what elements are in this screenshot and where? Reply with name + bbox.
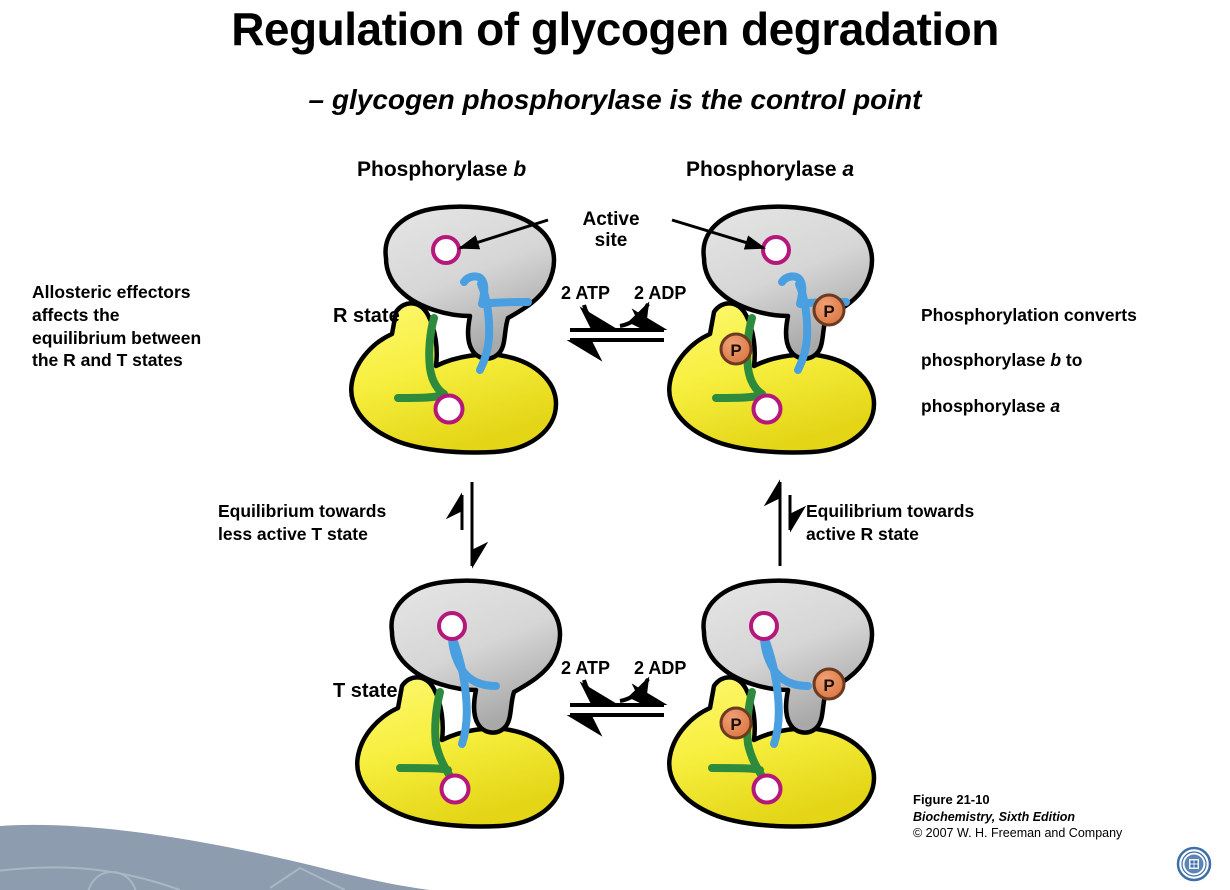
yellow-subunit	[669, 677, 874, 826]
phosphate-badge-yellow: P	[721, 334, 751, 364]
phosphorylase-diagram: P P P P	[0, 0, 1230, 890]
label-atp-bottom: 2 ATP	[561, 658, 610, 679]
atp-curve-top	[584, 305, 612, 328]
equilibrium-arrow-left	[462, 482, 472, 566]
active-site-gray	[751, 613, 777, 639]
active-site-yellow	[442, 776, 469, 803]
reaction-arrows-bottom	[570, 679, 664, 715]
yellow-subunit	[669, 303, 874, 452]
column-header-phosphorylase-b-text: Phosphorylase	[357, 158, 513, 181]
panel-phosphorylase-b-t-state	[357, 581, 562, 827]
blue-loop-tail	[480, 284, 489, 370]
note-phosphorylation-line3-pre: phosphorylase	[921, 396, 1050, 416]
note-allosteric-effectors: Allosteric effectors affects the equilib…	[32, 281, 282, 372]
figure-copyright: © 2007 W. H. Freeman and Company	[913, 825, 1122, 841]
svg-text:P: P	[730, 715, 741, 734]
figure-credit: Figure 21-10 Biochemistry, Sixth Edition…	[913, 792, 1122, 841]
blue-loop-tail	[452, 636, 467, 744]
note-phosphorylation-line2-italic: b	[1050, 350, 1061, 370]
page-subtitle: – glycogen phosphorylase is the control …	[0, 85, 1230, 116]
page-title: Regulation of glycogen degradation	[0, 4, 1230, 55]
blue-loop	[782, 276, 846, 304]
gray-subunit	[704, 581, 872, 733]
active-site-yellow	[436, 396, 463, 423]
active-site-gray	[433, 237, 459, 263]
panel-phosphorylase-a-t-state: P P	[669, 581, 874, 827]
svg-text:P: P	[823, 302, 834, 321]
label-atp-top: 2 ATP	[561, 283, 610, 304]
blue-loop-plug	[452, 636, 496, 686]
column-header-phosphorylase-b: Phosphorylase b	[357, 158, 526, 182]
figure-number: Figure 21-10	[913, 792, 1122, 809]
note-phosphorylation-line2-post: to	[1061, 350, 1082, 370]
phosphate-badge-gray: P	[814, 669, 844, 699]
green-loop-tail	[400, 768, 448, 770]
decorative-swoosh	[0, 810, 430, 890]
gray-subunit	[392, 581, 560, 733]
note-phosphorylation-converts: Phosphorylation converts phosphorylase b…	[921, 281, 1196, 418]
green-loop-tail	[716, 394, 762, 398]
label-adp-top: 2 ADP	[634, 283, 686, 304]
panel-phosphorylase-a-r-state: P P	[669, 207, 874, 453]
blue-loop-plug	[764, 636, 808, 686]
blue-loop-tail	[798, 284, 807, 370]
blue-loop-tail	[764, 636, 779, 744]
institution-seal-logo	[1176, 846, 1212, 882]
green-loop-tail	[398, 394, 444, 398]
column-header-phosphorylase-b-italic: b	[513, 158, 526, 181]
active-site-gray	[763, 237, 789, 263]
svg-text:P: P	[823, 676, 834, 695]
green-loop-plug	[435, 692, 452, 780]
figure-book-title: Biochemistry, Sixth Edition	[913, 809, 1122, 825]
active-site-yellow	[754, 776, 781, 803]
gray-subunit	[704, 207, 872, 359]
column-header-phosphorylase-a: Phosphorylase a	[686, 158, 854, 182]
active-site-yellow	[754, 396, 781, 423]
green-loop-tail	[712, 768, 760, 770]
column-header-phosphorylase-a-text: Phosphorylase	[686, 158, 842, 181]
note-phosphorylation-line3-italic: a	[1050, 396, 1060, 416]
phosphate-badge-gray: P	[814, 295, 844, 325]
gray-subunit	[386, 207, 554, 359]
swoosh-shape	[0, 825, 430, 890]
note-phosphorylation-line2-pre: phosphorylase	[921, 350, 1050, 370]
label-adp-bottom: 2 ADP	[634, 658, 686, 679]
note-equilibrium-right: Equilibrium towards active R state	[806, 500, 1041, 546]
equilibrium-arrow-right	[780, 482, 790, 566]
green-loop	[429, 318, 444, 394]
swoosh-circle	[88, 872, 136, 890]
svg-text:P: P	[730, 341, 741, 360]
note-phosphorylation-line1: Phosphorylation converts	[921, 305, 1137, 325]
blue-loop	[464, 276, 528, 304]
green-loop-plug	[747, 692, 764, 780]
label-active-site: Active site	[556, 210, 666, 251]
reaction-arrows-top	[570, 304, 664, 340]
phosphate-badge-yellow: P	[721, 708, 751, 738]
atp-curve-bottom	[584, 680, 612, 703]
column-header-phosphorylase-a-italic: a	[842, 158, 854, 181]
active-site-gray	[439, 613, 465, 639]
label-r-state: R state	[333, 305, 400, 328]
label-t-state: T state	[333, 680, 397, 703]
green-loop	[747, 318, 762, 394]
panel-phosphorylase-b-r-state	[351, 207, 556, 453]
adp-curve-top	[620, 304, 648, 326]
swoosh-line-1	[0, 867, 180, 890]
note-equilibrium-left: Equilibrium towards less active T state	[218, 500, 453, 546]
adp-curve-bottom	[620, 679, 648, 701]
swoosh-line-2	[270, 868, 345, 890]
